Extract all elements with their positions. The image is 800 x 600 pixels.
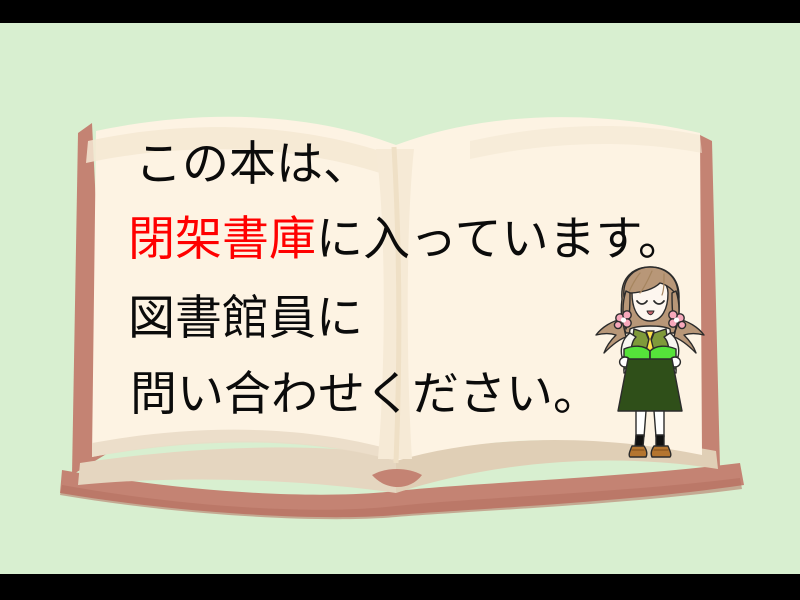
shoe-left xyxy=(629,446,647,457)
letterbox-bar-bottom xyxy=(0,574,800,600)
book-page-left xyxy=(92,117,396,461)
skirt xyxy=(618,359,682,411)
leg-right xyxy=(654,411,664,437)
shoe-right xyxy=(651,446,671,457)
leg-left xyxy=(636,411,646,437)
librarian-girl-illustration xyxy=(594,263,706,463)
letterbox-bar-top xyxy=(0,0,800,23)
slide-canvas: この本は、 閉架書庫に入っています。 図書館員に 問い合わせください。 xyxy=(0,0,800,600)
sock-right xyxy=(656,435,664,447)
sock-left xyxy=(635,435,644,447)
